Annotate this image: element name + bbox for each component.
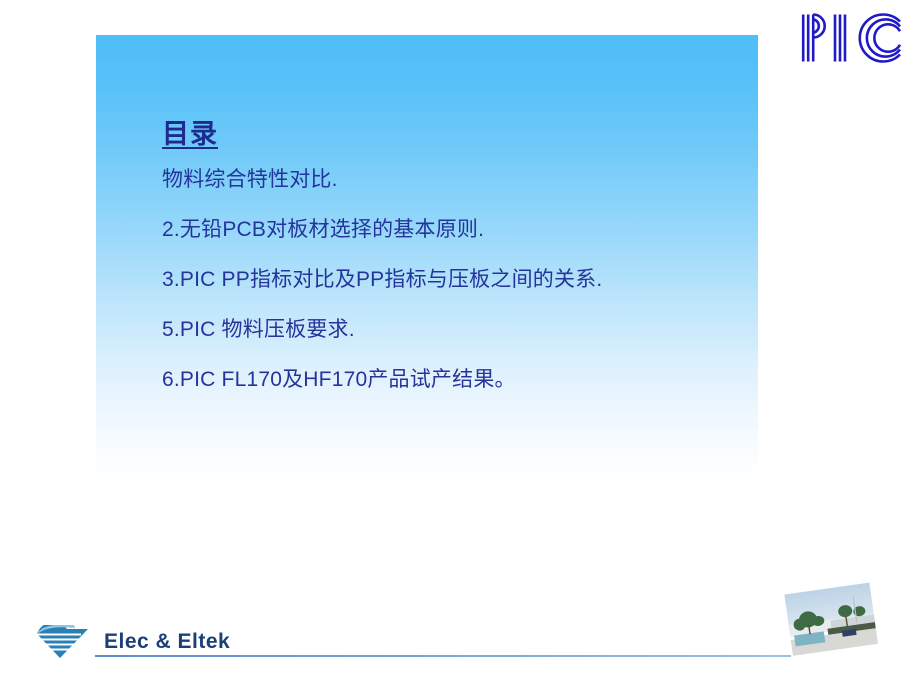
pic-brand-logo bbox=[800, 13, 904, 63]
toc-item: 5.PIC 物料压板要求. bbox=[162, 317, 762, 343]
table-of-contents: 目录 物料综合特性对比. 2.无铅PCB对板材选择的基本原则. 3.PIC PP… bbox=[162, 117, 762, 393]
footer-divider bbox=[95, 655, 795, 657]
delta-stripes-icon bbox=[34, 625, 92, 659]
footer-company-name: Elec & Eltek bbox=[104, 630, 230, 654]
slide-content-panel: 目录 物料综合特性对比. 2.无铅PCB对板材选择的基本原则. 3.PIC PP… bbox=[96, 35, 758, 481]
toc-item: 6.PIC FL170及HF170产品试产结果。 bbox=[162, 367, 762, 393]
factory-photo-thumbnail bbox=[782, 580, 884, 670]
toc-item: 3.PIC PP指标对比及PP指标与压板之间的关系. bbox=[162, 267, 762, 293]
page-title: 目录 bbox=[162, 117, 218, 151]
pic-logo-icon bbox=[800, 13, 904, 63]
toc-item: 物料综合特性对比. bbox=[162, 167, 762, 193]
toc-item: 2.无铅PCB对板材选择的基本原则. bbox=[162, 217, 762, 243]
